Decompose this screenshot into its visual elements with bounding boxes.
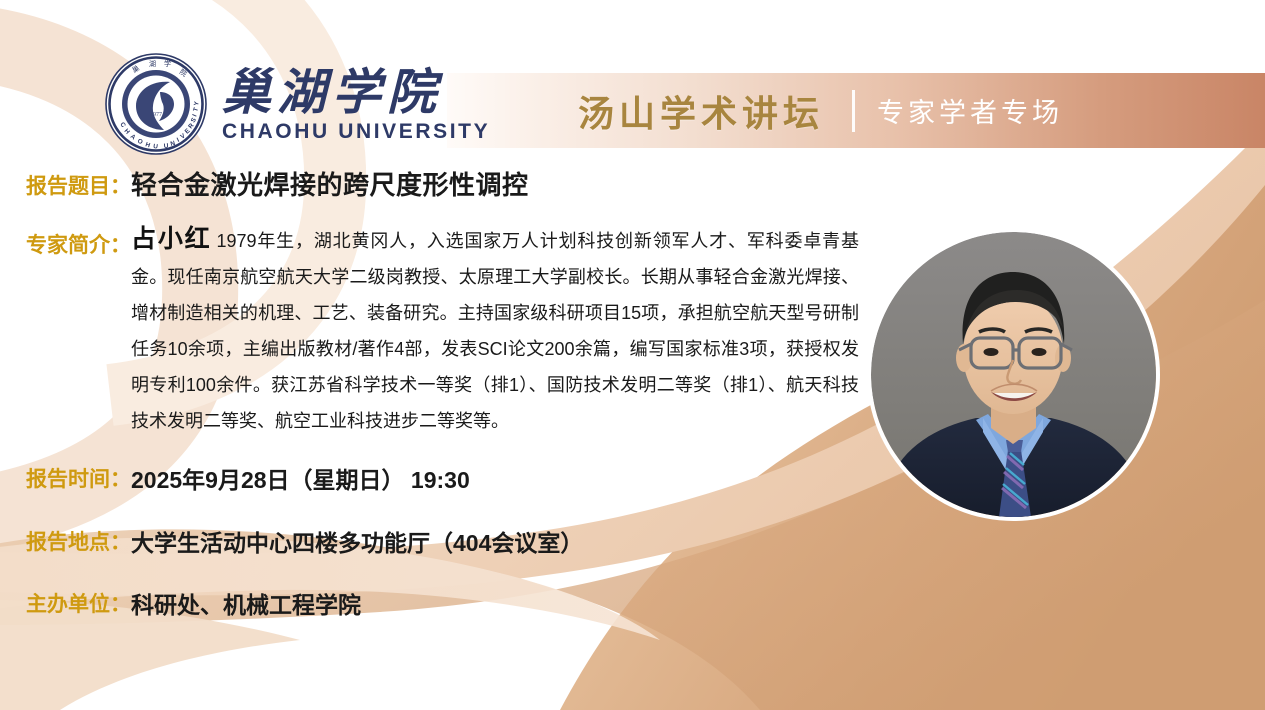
university-seal-icon: 1977 巢 湖 学 院 C H A O H U U N I V E R xyxy=(104,52,208,156)
banner-divider xyxy=(852,90,855,132)
logo-name-en: CHAOHU UNIVERSITY xyxy=(222,120,490,144)
row-report-place: 报告地点： 大学生活动中心四楼多功能厅（404会议室） xyxy=(0,526,1265,561)
speaker-bio-label: 专家简介： xyxy=(26,221,131,262)
speaker-bio-text: 1979年生，湖北黄冈人，入选国家万人计划科技创新领军人才、军科委卓青基金。现任… xyxy=(131,231,859,431)
row-report-title: 报告题目： 轻合金激光焊接的跨尺度形性调控 xyxy=(0,166,1265,205)
report-time-value: 2025年9月28日（星期日） 19:30 xyxy=(131,463,470,498)
banner-sub-title: 专家学者专场 xyxy=(877,91,1063,130)
svg-text:1977: 1977 xyxy=(150,112,162,118)
row-host-unit: 主办单位： 科研处、机械工程学院 xyxy=(0,588,1265,623)
report-time-label: 报告时间： xyxy=(26,463,131,496)
speaker-portrait xyxy=(871,232,1156,517)
host-unit-label: 主办单位： xyxy=(26,588,131,621)
seminar-poster: 汤山学术讲坛 专家学者专场 1977 巢 湖 学 院 C H xyxy=(0,0,1265,710)
university-logo: 1977 巢 湖 学 院 C H A O H U U N I V E R xyxy=(104,52,490,156)
report-title-label: 报告题目： xyxy=(26,166,131,203)
report-place-label: 报告地点： xyxy=(26,526,131,559)
svg-text:湖: 湖 xyxy=(149,59,156,68)
report-title-value: 轻合金激光焊接的跨尺度形性调控 xyxy=(131,166,529,205)
logo-wordmark: 巢湖学院 CHAOHU UNIVERSITY xyxy=(222,68,490,144)
logo-name-cn: 巢湖学院 xyxy=(222,68,442,118)
svg-text:学: 学 xyxy=(164,59,171,68)
report-place-value: 大学生活动中心四楼多功能厅（404会议室） xyxy=(131,526,583,561)
banner-main-title: 汤山学术讲坛 xyxy=(578,85,824,137)
speaker-name: 占小红 xyxy=(131,225,211,253)
host-unit-value: 科研处、机械工程学院 xyxy=(131,588,361,623)
header-banner: 汤山学术讲坛 专家学者专场 xyxy=(447,73,1265,148)
speaker-bio-body: 占小红1979年生，湖北黄冈人，入选国家万人计划科技创新领军人才、军科委卓青基金… xyxy=(131,221,859,439)
